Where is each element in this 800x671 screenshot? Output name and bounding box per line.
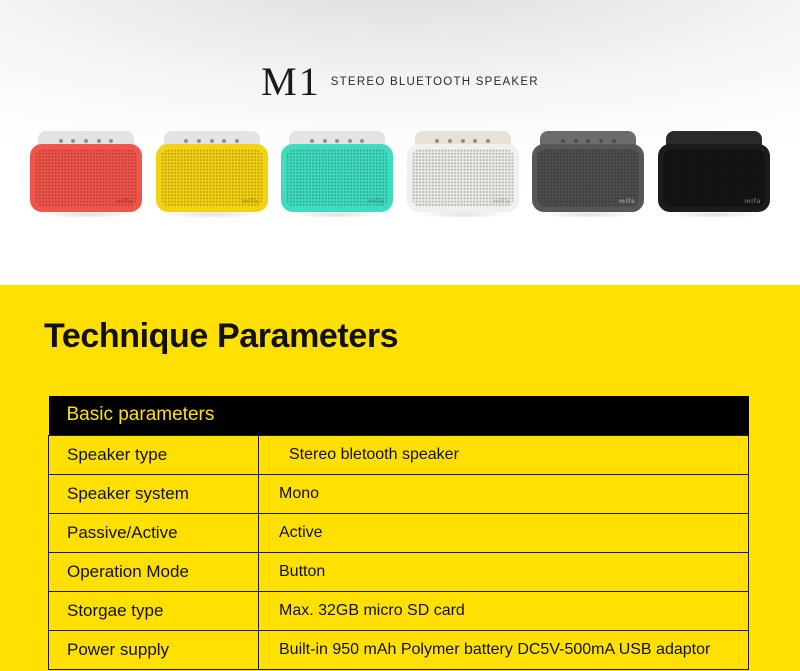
- brand-logo: mifa: [368, 198, 385, 205]
- speaker-button-icon: [486, 139, 490, 143]
- specifications-table: Basic parameters Speaker typeStereo blet…: [48, 396, 749, 670]
- speaker-button-icon: [310, 139, 314, 143]
- speaker-body: mifa: [407, 144, 519, 212]
- speaker-button-icon: [612, 139, 616, 143]
- speaker-button-icon: [222, 139, 226, 143]
- speaker-grey[interactable]: mifa: [532, 131, 644, 217]
- spec-row-value: Mono: [259, 475, 749, 514]
- speaker-button-icon: [348, 139, 352, 143]
- speaker-color-gallery: mifamifamifamifamifamifa: [0, 131, 800, 226]
- speaker-button-icon: [448, 139, 452, 143]
- spec-row-value: Max. 32GB micro SD card: [259, 592, 749, 631]
- spec-table-row: Storgae typeMax. 32GB micro SD card: [49, 592, 749, 631]
- brand-logo: mifa: [493, 198, 510, 205]
- spec-row-key: Power supply: [49, 631, 259, 670]
- hero-section: M1STEREO BLUETOOTH SPEAKER mifamifamifam…: [0, 0, 800, 285]
- product-detail-page: M1STEREO BLUETOOTH SPEAKER mifamifamifam…: [0, 0, 800, 671]
- speaker-button-icon: [323, 139, 327, 143]
- speaker-red[interactable]: mifa: [30, 131, 142, 217]
- speaker-button-icon: [59, 139, 63, 143]
- spec-row-key: Speaker system: [49, 475, 259, 514]
- speaker-shadow: [40, 211, 132, 218]
- spec-row-value: Active: [259, 514, 749, 553]
- brand-logo: mifa: [744, 198, 761, 205]
- spec-table-row: Power supplyBuilt-in 950 mAh Polymer bat…: [49, 631, 749, 670]
- product-model-name: M1: [261, 59, 321, 104]
- speaker-button-icon: [210, 139, 214, 143]
- speaker-button-icon: [599, 139, 603, 143]
- speaker-button-icon: [71, 139, 75, 143]
- speaker-button-icon: [473, 139, 477, 143]
- speaker-body: mifa: [658, 144, 770, 212]
- speaker-button-icon: [435, 139, 439, 143]
- speaker-button-icon: [699, 139, 703, 143]
- speaker-button-icon: [687, 139, 691, 143]
- speaker-shadow: [291, 211, 383, 218]
- speaker-button-icon: [97, 139, 101, 143]
- spec-row-value: Stereo bletooth speaker: [259, 436, 749, 475]
- speaker-button-icon: [725, 139, 729, 143]
- brand-logo: mifa: [116, 198, 133, 205]
- speaker-button-icon: [109, 139, 113, 143]
- spec-table-row: Speaker systemMono: [49, 475, 749, 514]
- speaker-button-icon: [335, 139, 339, 143]
- spec-table-header-label: Basic parameters: [49, 396, 749, 436]
- spec-table-row: Speaker typeStereo bletooth speaker: [49, 436, 749, 475]
- speaker-button-icon: [561, 139, 565, 143]
- spec-row-value: Built-in 950 mAh Polymer battery DC5V-50…: [259, 631, 749, 670]
- speaker-yellow[interactable]: mifa: [156, 131, 268, 217]
- speaker-shadow: [166, 211, 258, 218]
- spec-row-key: Storgae type: [49, 592, 259, 631]
- spec-row-key: Operation Mode: [49, 553, 259, 592]
- speaker-button-icon: [184, 139, 188, 143]
- speaker-button-icon: [84, 139, 88, 143]
- brand-logo: mifa: [242, 198, 259, 205]
- speaker-black[interactable]: mifa: [658, 131, 770, 217]
- hero-title: M1STEREO BLUETOOTH SPEAKER: [0, 58, 800, 105]
- speaker-body: mifa: [281, 144, 393, 212]
- spec-row-key: Passive/Active: [49, 514, 259, 553]
- speaker-body: mifa: [532, 144, 644, 212]
- product-subtitle: STEREO BLUETOOTH SPEAKER: [331, 76, 539, 88]
- spec-table-header-row: Basic parameters: [49, 396, 749, 436]
- speaker-button-icon: [197, 139, 201, 143]
- spec-table-row: Passive/ActiveActive: [49, 514, 749, 553]
- spec-row-key: Speaker type: [49, 436, 259, 475]
- speaker-button-icon: [235, 139, 239, 143]
- speaker-shadow: [668, 211, 760, 218]
- speaker-button-icon: [586, 139, 590, 143]
- speaker-body: mifa: [30, 144, 142, 212]
- spec-table-body: Basic parameters Speaker typeStereo blet…: [49, 396, 749, 670]
- speaker-teal[interactable]: mifa: [281, 131, 393, 217]
- speaker-shadow: [417, 211, 509, 218]
- brand-logo: mifa: [619, 198, 636, 205]
- speaker-button-icon: [574, 139, 578, 143]
- specifications-section: Technique Parameters Basic parameters Sp…: [0, 285, 800, 671]
- speaker-button-icon: [712, 139, 716, 143]
- speaker-white[interactable]: mifa: [407, 131, 519, 217]
- section-title: Technique Parameters: [44, 317, 398, 356]
- speaker-shadow: [542, 211, 634, 218]
- speaker-button-icon: [461, 139, 465, 143]
- spec-table-row: Operation ModeButton: [49, 553, 749, 592]
- speaker-button-icon: [737, 139, 741, 143]
- speaker-button-icon: [360, 139, 364, 143]
- speaker-body: mifa: [156, 144, 268, 212]
- spec-row-value: Button: [259, 553, 749, 592]
